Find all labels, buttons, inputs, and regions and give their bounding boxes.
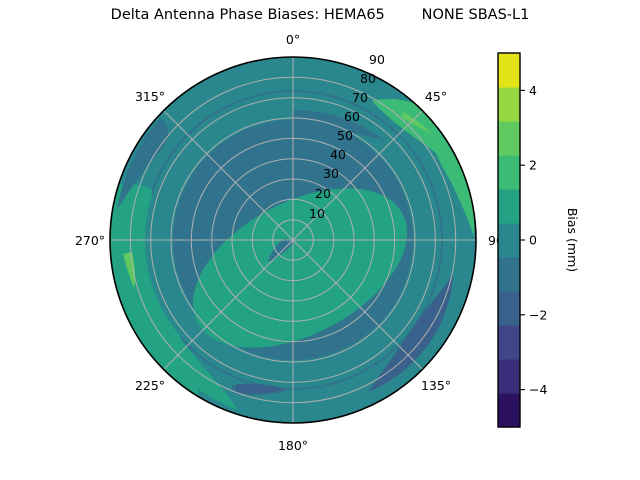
colorbar-swatches: [498, 53, 520, 428]
r-tick-70: 70: [352, 90, 368, 105]
r-tick-40: 40: [330, 147, 346, 162]
polar-bias-plot: 0° 45° 90 135° 180° 225° 270° 315° 10 20…: [0, 0, 640, 480]
r-tick-20: 20: [315, 186, 331, 201]
theta-tick-135: 135°: [421, 378, 451, 393]
figure-canvas: Delta Antenna Phase Biases: HEMA65 NONE …: [0, 0, 640, 480]
polar-grid: [110, 57, 476, 423]
colorbar-tick-label-4: −4: [529, 382, 547, 397]
colorbar-band-9: [498, 87, 520, 122]
colorbar-band-3: [498, 291, 520, 326]
colorbar-band-5: [498, 223, 520, 258]
r-tick-30: 30: [323, 166, 339, 181]
r-tick-50: 50: [337, 128, 353, 143]
r-tick-60: 60: [344, 109, 360, 124]
theta-tick-315: 315°: [135, 89, 165, 104]
colorbar-band-8: [498, 121, 520, 156]
colorbar[interactable]: 420−2−4 Bias (mm): [498, 53, 580, 428]
theta-tick-270: 270°: [75, 233, 105, 248]
r-tick-90: 90: [369, 52, 385, 67]
colorbar-band-10: [498, 53, 520, 88]
r-tick-80: 80: [360, 71, 376, 86]
colorbar-band-7: [498, 155, 520, 190]
colorbar-tick-label-0: 4: [529, 83, 537, 98]
colorbar-tick-labels: 420−2−4: [529, 83, 547, 397]
page-title: Delta Antenna Phase Biases: HEMA65 NONE …: [0, 7, 640, 23]
theta-tick-225: 225°: [135, 378, 165, 393]
colorbar-tick-label-3: −2: [529, 307, 547, 322]
r-tick-10: 10: [309, 206, 325, 221]
colorbar-tick-label-2: 0: [529, 233, 537, 248]
colorbar-ticks: [520, 90, 525, 389]
theta-tick-0: 0°: [286, 32, 300, 47]
theta-tick-45: 45°: [425, 89, 447, 104]
colorbar-band-0: [498, 393, 520, 428]
colorbar-band-6: [498, 189, 520, 224]
theta-tick-180: 180°: [278, 438, 308, 453]
colorbar-band-4: [498, 257, 520, 292]
colorbar-band-2: [498, 325, 520, 360]
colorbar-tick-label-1: 2: [529, 158, 537, 173]
colorbar-band-1: [498, 359, 520, 394]
colorbar-axis-title: Bias (mm): [565, 208, 580, 272]
